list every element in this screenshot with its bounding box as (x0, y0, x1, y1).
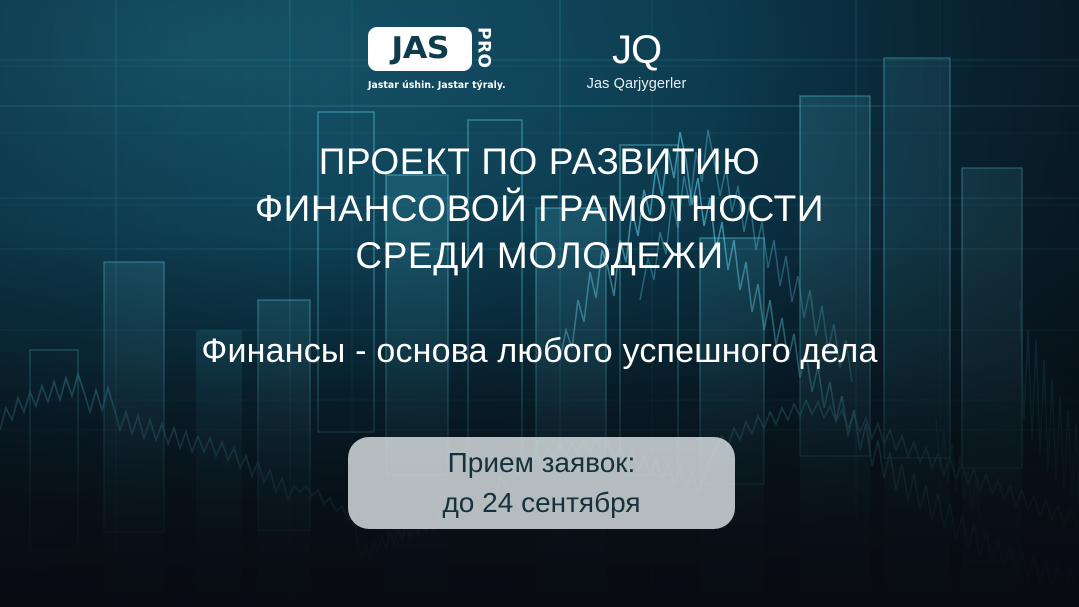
jq-name-text: Jas Qarjygerler (562, 76, 712, 92)
header-logo-row: JAS PRO Jastar úshin. Jastar týraly. JQ … (0, 27, 1079, 92)
page-title: ПРОЕКТ ПО РАЗВИТИЮ ФИНАНСОВОЙ ГРАМОТНОСТ… (0, 138, 1079, 279)
jas-pro-suffix-text: PRO (475, 27, 492, 69)
jas-pro-mark: JAS PRO (368, 27, 502, 75)
jas-wordmark-text: JAS (390, 34, 450, 64)
background-ticker-line-left (0, 374, 354, 520)
headline-line-1: ПРОЕКТ ПО РАЗВИТИЮ (0, 138, 1079, 185)
deadline-badge: Прием заявок: до 24 сентября (348, 437, 735, 529)
jas-pro-tagline: Jastar úshin. Jastar týraly. (368, 80, 498, 91)
deadline-badge-date: до 24 сентября (442, 485, 640, 521)
poster-canvas: JAS PRO Jastar úshin. Jastar týraly. JQ … (0, 0, 1079, 607)
logo-jas-qarjygerler[interactable]: JQ Jas Qarjygerler (562, 27, 712, 92)
jq-monogram-text: JQ (562, 29, 712, 71)
logo-jas-pro[interactable]: JAS PRO Jastar úshin. Jastar týraly. (368, 27, 502, 91)
page-subtitle: Финансы - основа любого успешного дела (0, 332, 1079, 371)
headline-line-3: СРЕДИ МОЛОДЕЖИ (0, 232, 1079, 279)
jas-logo-box: JAS (368, 27, 472, 71)
headline-line-2: ФИНАНСОВОЙ ГРАМОТНОСТИ (0, 185, 1079, 232)
deadline-badge-label: Прием заявок: (448, 445, 636, 481)
